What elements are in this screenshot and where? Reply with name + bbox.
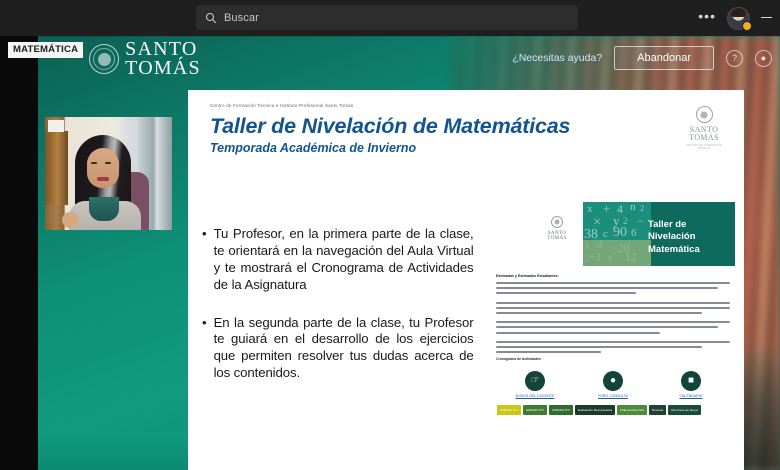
presenter-video-tile[interactable] bbox=[45, 117, 172, 230]
chat-icon: ● bbox=[603, 371, 623, 391]
presenter-eye-right bbox=[105, 162, 111, 164]
embed-santo-tomas-logo: SANTO TOMÁS bbox=[536, 216, 578, 242]
text-line bbox=[496, 326, 718, 328]
people-circle-icon[interactable]: ● bbox=[755, 50, 772, 67]
course-banner: x + 4 n 2 × y 2 − 38 c 90 6 bbox=[583, 202, 735, 266]
bullet-dot-icon: • bbox=[202, 226, 207, 294]
shared-slide[interactable]: Centro de Formación Técnica e Instituto … bbox=[188, 90, 744, 470]
slide-logo-subtitle: CENTRO DE FORMACIÓN TÉCNICA bbox=[680, 144, 728, 150]
video-wall-paper bbox=[48, 120, 64, 132]
ellipsis-icon[interactable]: ••• bbox=[698, 9, 716, 28]
text-line bbox=[496, 341, 730, 343]
text-line bbox=[496, 307, 730, 309]
embed-header: SANTO TOMÁS x + 4 n 2 × y 2 bbox=[488, 200, 738, 268]
text-line bbox=[496, 287, 718, 289]
embed-logo-line-2: TOMÁS bbox=[536, 236, 578, 241]
titlebar-controls: ••• bbox=[698, 0, 772, 36]
embed-greeting: Estimadas y Estimados Estudiantes: bbox=[496, 274, 730, 278]
quick-link-foro[interactable]: ● FORO CONSULTA bbox=[582, 371, 644, 398]
text-line bbox=[496, 332, 660, 334]
avatar[interactable] bbox=[727, 7, 750, 30]
slide-logo-line-2: TOMÁS bbox=[680, 134, 728, 142]
slide-bullet-list: • Tu Profesor, en la primera parte de la… bbox=[202, 226, 492, 403]
list-item: • En la segunda parte de la clase, tu Pr… bbox=[202, 315, 492, 383]
text-line bbox=[496, 292, 636, 294]
meeting-stage: MATEMÁTICA SANTO TOMÁS ¿Necesitas ayuda?… bbox=[0, 36, 780, 470]
quick-link-avisos[interactable]: ☞ AVISOS DEL DOCENTE bbox=[504, 371, 566, 398]
santo-tomas-wordmark: SANTO TOMÁS bbox=[125, 40, 201, 78]
aula-virtual-screenshot: SANTO TOMÁS x + 4 n 2 × y 2 bbox=[488, 200, 738, 470]
quick-link-label: CALENDARIO bbox=[660, 394, 722, 398]
seal-core bbox=[98, 53, 111, 66]
stage-left-gutter bbox=[0, 36, 38, 470]
embed-body-text: Estimadas y Estimados Estudiantes: bbox=[488, 268, 738, 361]
university-seal-icon bbox=[89, 44, 119, 74]
bullet-text: En la segunda parte de la clase, tu Prof… bbox=[214, 315, 474, 383]
santo-tomas-logo: SANTO TOMÁS bbox=[89, 40, 201, 78]
list-item: • Tu Profesor, en la primera parte de la… bbox=[202, 226, 492, 294]
meeting-header: MATEMÁTICA SANTO TOMÁS ¿Necesitas ayuda?… bbox=[0, 36, 780, 88]
meeting-header-actions: ¿Necesitas ayuda? Abandonar ? ● bbox=[512, 46, 772, 70]
embed-seal-icon bbox=[551, 216, 563, 228]
meeting-branding: MATEMÁTICA SANTO TOMÁS bbox=[8, 42, 201, 78]
spacer bbox=[496, 298, 730, 302]
banner-title: Taller de Nivelación Matemática bbox=[648, 219, 728, 256]
embed-section-heading: Cronograma de Actividades bbox=[496, 357, 730, 361]
text-line bbox=[496, 302, 730, 304]
slide-seal-icon bbox=[696, 106, 713, 123]
app-title-bar: Buscar ••• bbox=[0, 0, 780, 36]
teams-meeting-window: Buscar ••• MATEMÁTICA bbox=[0, 0, 780, 470]
text-line bbox=[496, 282, 730, 284]
megaphone-icon: ☞ bbox=[525, 371, 545, 391]
text-line bbox=[496, 351, 601, 353]
tab-docente[interactable]: Docente bbox=[649, 405, 667, 415]
tab-unidad-2[interactable]: UNIDAD N°2 bbox=[523, 405, 547, 415]
embed-quick-links: ☞ AVISOS DEL DOCENTE ● FORO CONSULTA ■ C… bbox=[488, 364, 738, 398]
bullet-text: Tu Profesor, en la primera parte de la c… bbox=[214, 226, 474, 294]
tab-recursos[interactable]: Recursos de Apoyo bbox=[668, 405, 701, 415]
video-cabinet bbox=[45, 131, 68, 205]
help-circle-icon[interactable]: ? bbox=[726, 50, 743, 67]
presenter-face bbox=[87, 148, 119, 188]
tab-unidad-1[interactable]: UNIDAD N°1 bbox=[497, 405, 521, 415]
minimize-icon[interactable] bbox=[761, 17, 772, 18]
search-icon bbox=[205, 12, 217, 24]
wordmark-line-2: TOMÁS bbox=[125, 59, 201, 78]
help-link[interactable]: ¿Necesitas ayuda? bbox=[512, 52, 602, 64]
quick-link-label: AVISOS DEL DOCENTE bbox=[504, 394, 566, 398]
quick-link-label: FORO CONSULTA bbox=[582, 394, 644, 398]
presenter-mouth bbox=[97, 177, 109, 181]
subject-tag: MATEMÁTICA bbox=[8, 42, 83, 58]
slide-title: Taller de Nivelación de Matemáticas bbox=[210, 114, 570, 139]
text-line bbox=[496, 312, 702, 314]
tab-evaluacion-recuperativa[interactable]: Evaluación Recuperativa bbox=[575, 405, 615, 415]
slide-kicker: Centro de Formación Técnica e Instituto … bbox=[210, 103, 353, 108]
slide-right-margin bbox=[740, 90, 744, 470]
search-bar[interactable]: Buscar bbox=[196, 5, 578, 30]
slide-santo-tomas-logo: SANTO TOMÁS CENTRO DE FORMACIÓN TÉCNICA bbox=[680, 106, 728, 150]
tab-videoconferencia[interactable]: Videoconferencia bbox=[617, 405, 647, 415]
presenter-eye-left bbox=[91, 162, 97, 164]
status-badge bbox=[742, 21, 752, 31]
slide-subtitle: Temporada Académica de Invierno bbox=[210, 141, 416, 155]
tab-unidad-3[interactable]: UNIDAD N°3 bbox=[549, 405, 573, 415]
presenter-scarf bbox=[89, 197, 119, 221]
quick-link-calendario[interactable]: ■ CALENDARIO bbox=[660, 371, 722, 398]
text-line bbox=[496, 346, 702, 348]
text-line bbox=[496, 321, 730, 323]
leave-button[interactable]: Abandonar bbox=[614, 46, 714, 70]
embed-unit-tabs: UNIDAD N°1 UNIDAD N°2 UNIDAD N°3 Evaluac… bbox=[488, 398, 738, 415]
calendar-icon: ■ bbox=[681, 371, 701, 391]
search-input[interactable]: Buscar bbox=[224, 12, 259, 24]
bullet-dot-icon: • bbox=[202, 315, 207, 383]
banner-green-overlay bbox=[583, 240, 651, 266]
presenter-hand bbox=[62, 212, 79, 228]
